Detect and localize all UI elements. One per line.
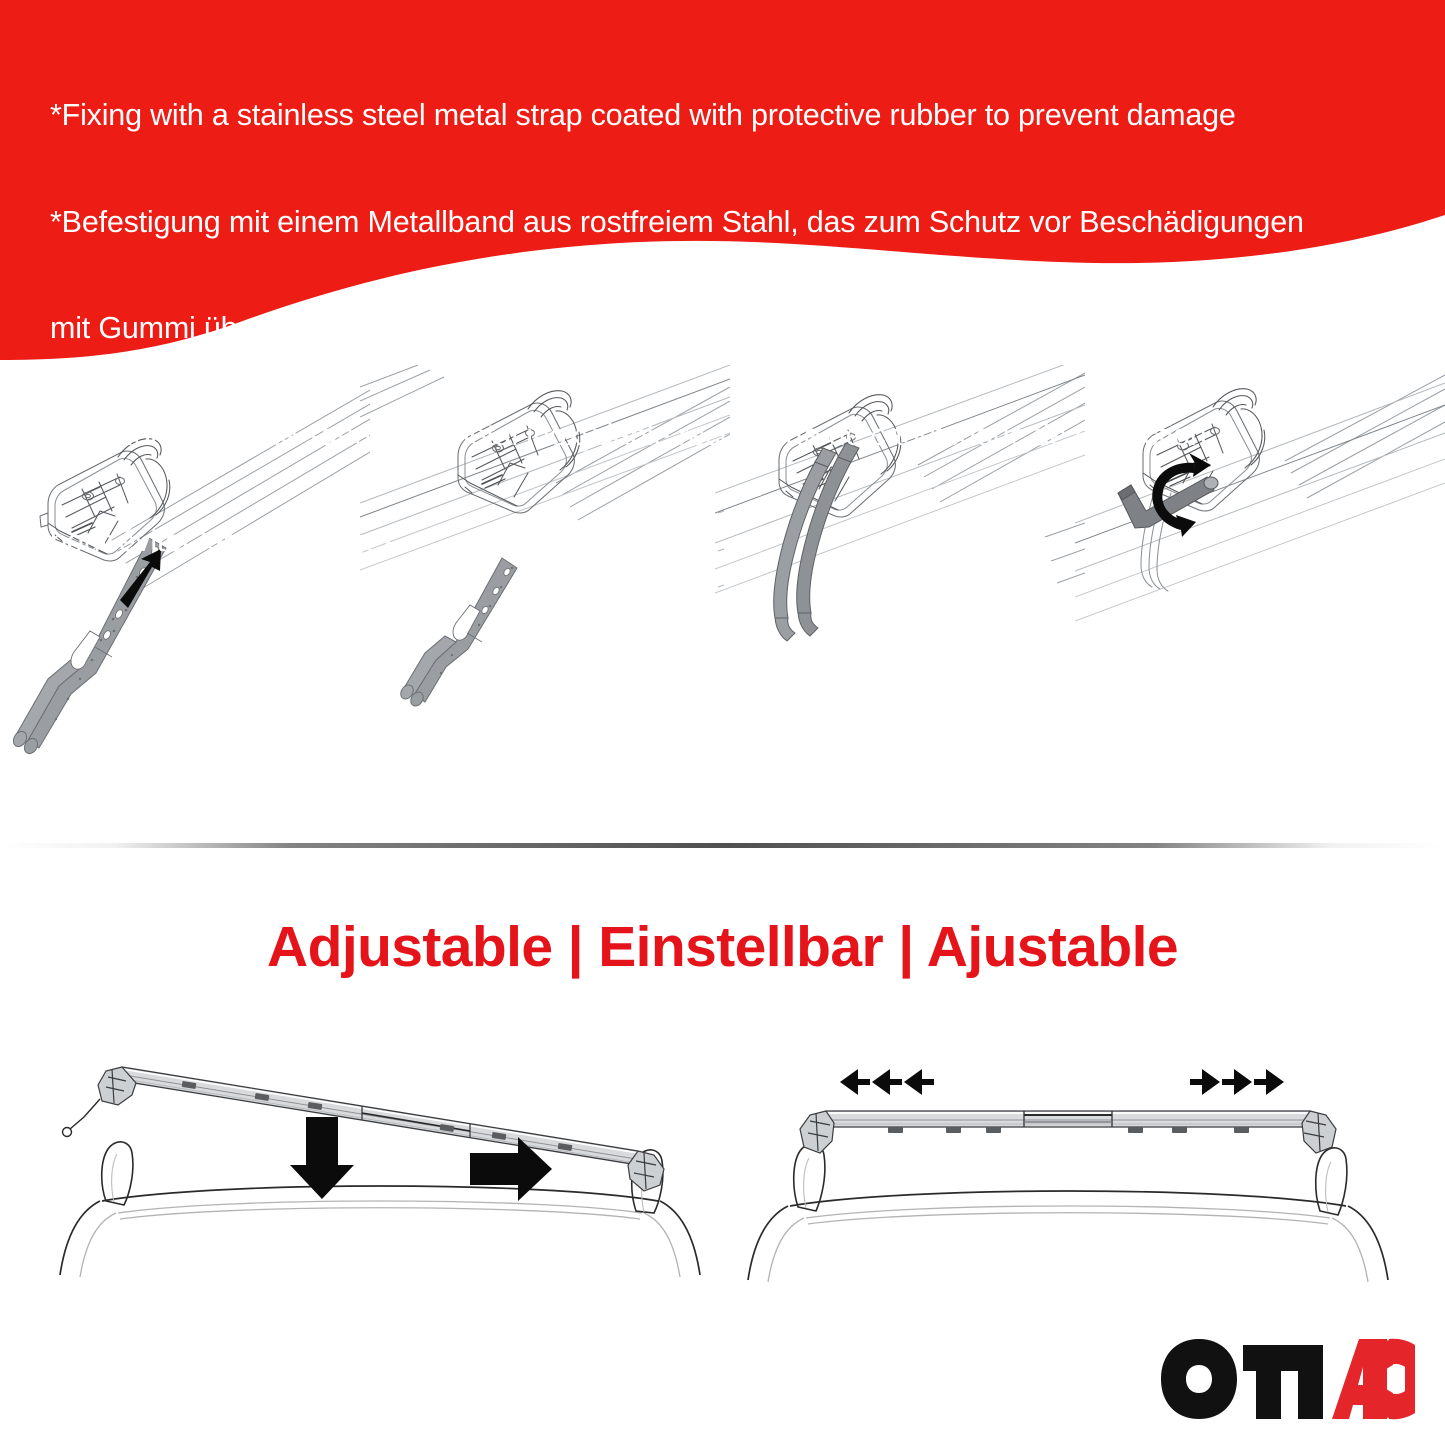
crossbar-width-illustration [728, 1025, 1408, 1325]
header-description-text: *Fixing with a stainless steel metal str… [50, 27, 1425, 631]
adjustable-diagrams [0, 1025, 1445, 1325]
crossbar-placement [40, 1025, 720, 1325]
header-line-en: *Fixing with a stainless steel metal str… [50, 98, 1425, 134]
section-divider [0, 843, 1445, 848]
product-infographic: *Fixing with a stainless steel metal str… [0, 0, 1445, 1445]
omac-logo-mark [1157, 1335, 1417, 1423]
omac-logo [1157, 1335, 1417, 1423]
header-line-de-2: mit Gummi überzogen ist [50, 311, 1425, 347]
logo-letter-o [1161, 1339, 1237, 1419]
crossbar-width-adjust [728, 1025, 1408, 1325]
header-line-fr-2: pour éviter les dommages. [50, 524, 1425, 560]
header-line-de-1: *Befestigung mit einem Metallband aus ro… [50, 205, 1425, 241]
crossbar-placement-illustration [40, 1025, 720, 1325]
logo-letter-m [1243, 1345, 1323, 1419]
header-line-fr-1: *Fixation avec une sangle en métal inoxy… [50, 418, 1425, 454]
header-banner: *Fixing with a stainless steel metal str… [0, 0, 1445, 360]
adjustable-title: Adjustable | Einstellbar | Ajustable [0, 914, 1445, 980]
triple-right-arrow-icon [1190, 1069, 1284, 1095]
triple-left-arrow-icon [840, 1069, 934, 1095]
